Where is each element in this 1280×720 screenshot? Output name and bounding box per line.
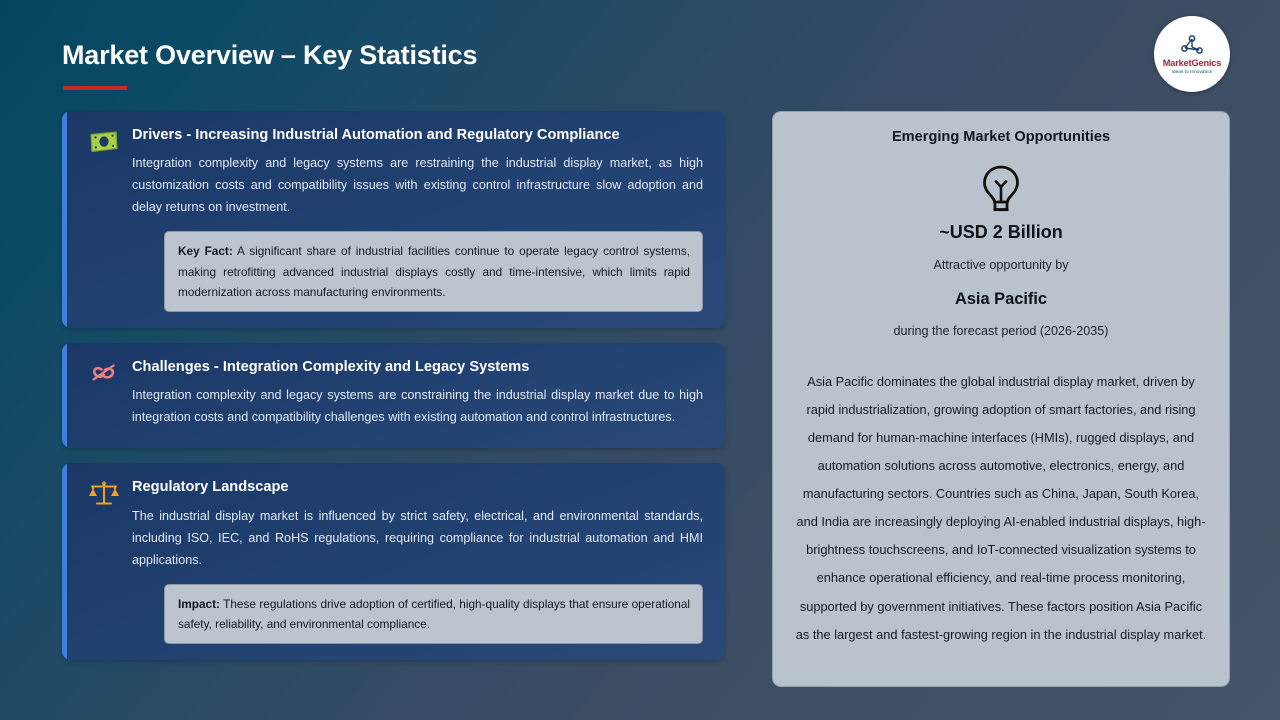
card-drivers: Drivers - Increasing Industrial Automati… <box>62 111 725 328</box>
card-description: The industrial display market is influen… <box>132 505 703 571</box>
card-challenges: Challenges - Integration Complexity and … <box>62 343 725 448</box>
key-fact-label: Key Fact: <box>178 244 233 258</box>
page-title: Market Overview – Key Statistics <box>62 40 477 71</box>
forecast-period: during the forecast period (2026-2035) <box>787 324 1215 338</box>
brand-logo: MarketGenics Ideas to Innovation <box>1154 16 1230 92</box>
card-title: Challenges - Integration Complexity and … <box>132 358 703 376</box>
panel-paragraph: Asia Pacific dominates the global indust… <box>787 368 1215 649</box>
card-description: Integration complexity and legacy system… <box>132 152 703 218</box>
card-description: Integration complexity and legacy system… <box>132 384 703 428</box>
impact-box: Impact: These regulations drive adoption… <box>164 584 703 645</box>
opportunity-value: ~USD 2 Billion <box>787 222 1215 243</box>
panel-title: Emerging Market Opportunities <box>787 129 1215 147</box>
money-banknote-icon <box>88 126 120 158</box>
opportunity-region: Asia Pacific <box>787 290 1215 309</box>
page-header: Market Overview – Key Statistics MarketG… <box>0 0 1280 104</box>
title-underline-rule <box>63 86 127 90</box>
impact-text: Impact: These regulations drive adoption… <box>178 594 690 635</box>
opportunity-subtitle: Attractive opportunity by <box>787 258 1215 272</box>
left-cards-column: Drivers - Increasing Industrial Automati… <box>62 111 725 660</box>
impact-body: These regulations drive adoption of cert… <box>178 597 690 631</box>
emerging-market-opportunities-panel: Emerging Market Opportunities ~USD 2 Bil… <box>772 111 1230 687</box>
molecule-node-icon <box>1177 34 1207 58</box>
card-regulatory-landscape: Regulatory Landscape The industrial disp… <box>62 463 725 660</box>
card-accent-bar <box>62 111 67 328</box>
key-fact-text: Key Fact: A significant share of industr… <box>178 241 690 302</box>
card-title: Drivers - Increasing Industrial Automati… <box>132 126 703 144</box>
logo-brand-name: MarketGenics <box>1163 59 1221 68</box>
key-fact-box: Key Fact: A significant share of industr… <box>164 231 703 312</box>
lightbulb-icon <box>787 164 1215 216</box>
card-accent-bar <box>62 463 67 660</box>
card-title: Regulatory Landscape <box>132 478 703 496</box>
impact-label: Impact: <box>178 597 220 611</box>
broken-link-icon <box>88 358 120 390</box>
card-accent-bar <box>62 343 67 448</box>
logo-tagline: Ideas to Innovation <box>1172 70 1213 75</box>
balance-scales-icon <box>88 478 120 510</box>
key-fact-body: A significant share of industrial facili… <box>178 244 690 299</box>
